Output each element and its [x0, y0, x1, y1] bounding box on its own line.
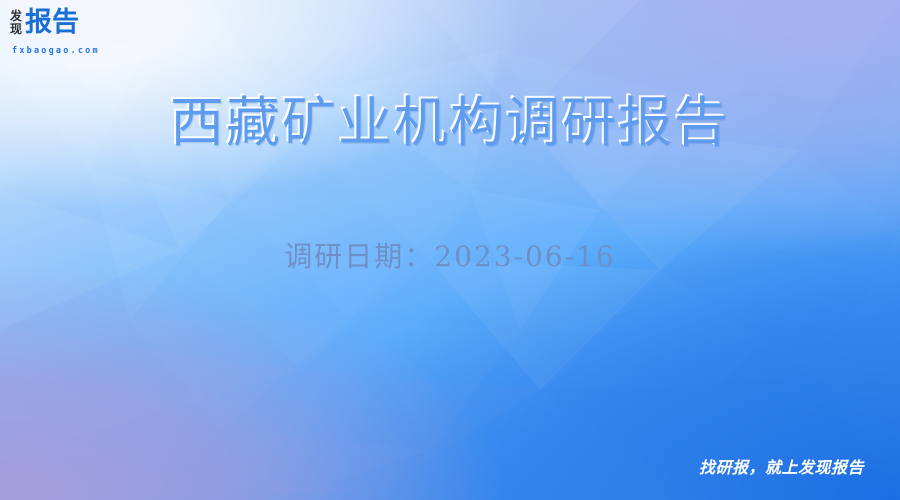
page-title: 西藏矿业机构调研报告: [0, 92, 900, 154]
brand-logo[interactable]: 发 现 报告 fxbaogao.com: [10, 9, 79, 36]
report-cover-slide: 发 现 报告 fxbaogao.com 西藏矿业机构调研报告 调研日期：2023…: [0, 0, 900, 500]
logo-stacked-bottom: 现: [10, 23, 22, 36]
logo-stacked-characters: 发 现: [10, 9, 22, 36]
logo-wordmark: 报告: [25, 9, 79, 36]
logo-mark: 发 现 报告: [10, 9, 79, 36]
footer-slogan: 找研报，就上发现报告: [699, 458, 864, 478]
header-bar: 发 现 报告 fxbaogao.com: [0, 0, 900, 58]
survey-date: 调研日期：2023-06-16: [0, 240, 900, 274]
date-container: 调研日期：2023-06-16: [0, 240, 900, 274]
logo-url-text: fxbaogao.com: [12, 46, 100, 56]
title-container: 西藏矿业机构调研报告: [0, 92, 900, 154]
